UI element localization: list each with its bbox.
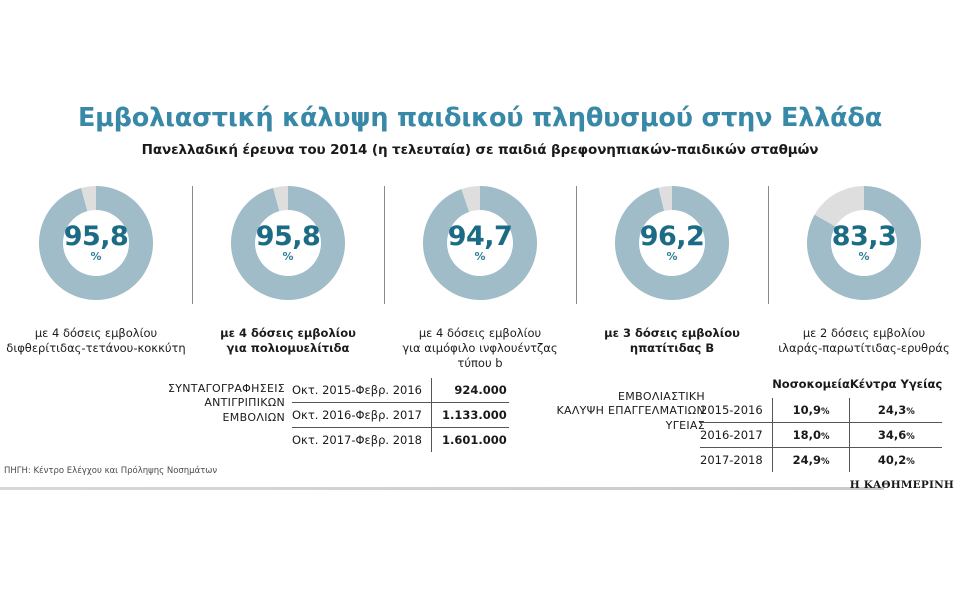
prescriptions-table: Οκτ. 2015-Φεβρ. 2016924.000Οκτ. 2016-Φεβ… [292,378,509,452]
caption-line-1: με 4 δόσεις εμβολίου [384,326,576,341]
caption-line-1: με 4 δόσεις εμβολίου [192,326,384,341]
value-number: 24,3 [878,403,906,417]
percent-sign: % [821,457,830,467]
donut-ring-4: 96,2% [607,178,737,308]
caption-line-2: διφθερίτιδας-τετάνου-κοκκύτη [0,341,192,356]
table-row: 2016-201718,0%34,6% [700,423,942,448]
centers-value-cell: 34,6% [850,423,942,448]
right-caption-line-3: ΥΓΕΙΑΣ [490,419,705,433]
table-row: Οκτ. 2017-Φεβρ. 20181.601.000 [292,428,509,453]
donut-caption-1: με 4 δόσεις εμβολίουδιφθερίτιδας-τετάνου… [0,326,192,356]
percent-sign: % [821,432,830,442]
caption-line-2: για αιμόφιλο ινφλουέντζας τύπου b [384,341,576,371]
column-header: Νοσοκομεία [772,372,850,398]
centers-value-cell: 40,2% [850,448,942,473]
caption-line-1: με 4 δόσεις εμβολίου [0,326,192,341]
period-cell: 2016-2017 [700,423,772,448]
table-row: Οκτ. 2016-Φεβρ. 20171.133.000 [292,403,509,428]
value-number: 40,2 [878,453,906,467]
percent-sign: % [906,407,915,417]
page-subtitle: Πανελλαδική έρευνα του 2014 (η τελευταία… [0,142,960,158]
donut-chart-1: 95,8%με 4 δόσεις εμβολίουδιφθερίτιδας-τε… [0,178,192,358]
left-caption-line-2: ΑΝΤΙΓΡΙΠΙΚΩΝ [120,396,285,410]
donut-ring-1: 95,8% [31,178,161,308]
caption-line-2: για πολιομυελίτιδα [192,341,384,356]
donut-chart-row: 95,8%με 4 δόσεις εμβολίουδιφθερίτιδας-τε… [0,178,960,358]
donut-divider-3 [576,186,577,304]
donut-chart-5: 83,3%με 2 δόσεις εμβολίουιλαράς-παρωτίτι… [768,178,960,358]
donut-caption-4: με 3 δόσεις εμβολίουηπατίτιδας Β [576,326,768,356]
footer-rule [0,487,884,490]
publisher-brand: Η ΚΑΘΗΜΕΡΙΝΗ [850,479,954,491]
donut-divider-2 [384,186,385,304]
left-caption-line-3: ΕΜΒΟΛΙΩΝ [120,411,285,425]
hospitals-value-cell: 10,9% [772,398,850,423]
value-number: 10,9 [793,403,821,417]
caption-line-1: με 3 δόσεις εμβολίου [576,326,768,341]
period-cell: 2017-2018 [700,448,772,473]
donut-ring-5: 83,3% [799,178,929,308]
donut-ring-2: 95,8% [223,178,353,308]
period-cell: 2015-2016 [700,398,772,423]
header-spacer [700,372,772,398]
period-cell: Οκτ. 2016-Φεβρ. 2017 [292,403,431,428]
source-note: ΠΗΓΗ: Κέντρο Ελέγχου και Πρόληψης Νοσημά… [4,466,217,476]
column-header: Κέντρα Υγείας [850,372,942,398]
hospitals-value-cell: 18,0% [772,423,850,448]
period-cell: Οκτ. 2017-Φεβρ. 2018 [292,428,431,453]
donut-caption-3: με 4 δόσεις εμβολίουγια αιμόφιλο ινφλουέ… [384,326,576,372]
table-row: 2015-201610,9%24,3% [700,398,942,423]
table-row: Οκτ. 2015-Φεβρ. 2016924.000 [292,378,509,403]
stats-tables: ΣΥΝΤΑΓΟΓΡΑΦΗΣΕΙΣ ΑΝΤΙΓΡΙΠΙΚΩΝ ΕΜΒΟΛΙΩΝ Ο… [0,372,960,467]
centers-value-cell: 24,3% [850,398,942,423]
table-row: 2017-201824,9%40,2% [700,448,942,473]
donut-divider-4 [768,186,769,304]
value-number: 18,0 [793,428,821,442]
donut-chart-4: 96,2%με 3 δόσεις εμβολίουηπατίτιδας Β [576,178,768,358]
table-header-row: ΝοσοκομείαΚέντρα Υγείας [700,372,942,398]
percent-sign: % [906,457,915,467]
period-cell: Οκτ. 2015-Φεβρ. 2016 [292,378,431,403]
page-title: Εμβολιαστική κάλυψη παιδικού πληθυσμού σ… [0,103,960,133]
right-table-caption: ΕΜΒΟΛΙΑΣΤΙΚΗ ΚΑΛΥΨΗ ΕΠΑΓΓΕΛΜΑΤΙΩΝ ΥΓΕΙΑΣ [490,390,705,433]
donut-ring-3: 94,7% [415,178,545,308]
value-number: 24,9 [793,453,821,467]
right-caption-line-2: ΚΑΛΥΨΗ ΕΠΑΓΓΕΛΜΑΤΙΩΝ [490,404,705,418]
donut-caption-5: με 2 δόσεις εμβολίουιλαράς-παρωτίτιδας-ε… [768,326,960,356]
donut-chart-3: 94,7%με 4 δόσεις εμβολίουγια αιμόφιλο ιν… [384,178,576,358]
donut-caption-2: με 4 δόσεις εμβολίουγια πολιομυελίτιδα [192,326,384,356]
infographic-canvas: Εμβολιαστική κάλυψη παιδικού πληθυσμού σ… [0,0,960,600]
left-table-caption: ΣΥΝΤΑΓΟΓΡΑΦΗΣΕΙΣ ΑΝΤΙΓΡΙΠΙΚΩΝ ΕΜΒΟΛΙΩΝ [120,382,285,425]
donut-chart-2: 95,8%με 4 δόσεις εμβολίουγια πολιομυελίτ… [192,178,384,358]
healthworkers-coverage-table: ΝοσοκομείαΚέντρα Υγείας2015-201610,9%24,… [700,372,942,472]
right-caption-line-1: ΕΜΒΟΛΙΑΣΤΙΚΗ [490,390,705,404]
left-caption-line-1: ΣΥΝΤΑΓΟΓΡΑΦΗΣΕΙΣ [120,382,285,396]
percent-sign: % [906,432,915,442]
value-number: 34,6 [878,428,906,442]
donut-divider-1 [192,186,193,304]
caption-line-2: ιλαράς-παρωτίτιδας-ερυθράς [768,341,960,356]
percent-sign: % [821,407,830,417]
caption-line-2: ηπατίτιδας Β [576,341,768,356]
hospitals-value-cell: 24,9% [772,448,850,473]
caption-line-1: με 2 δόσεις εμβολίου [768,326,960,341]
